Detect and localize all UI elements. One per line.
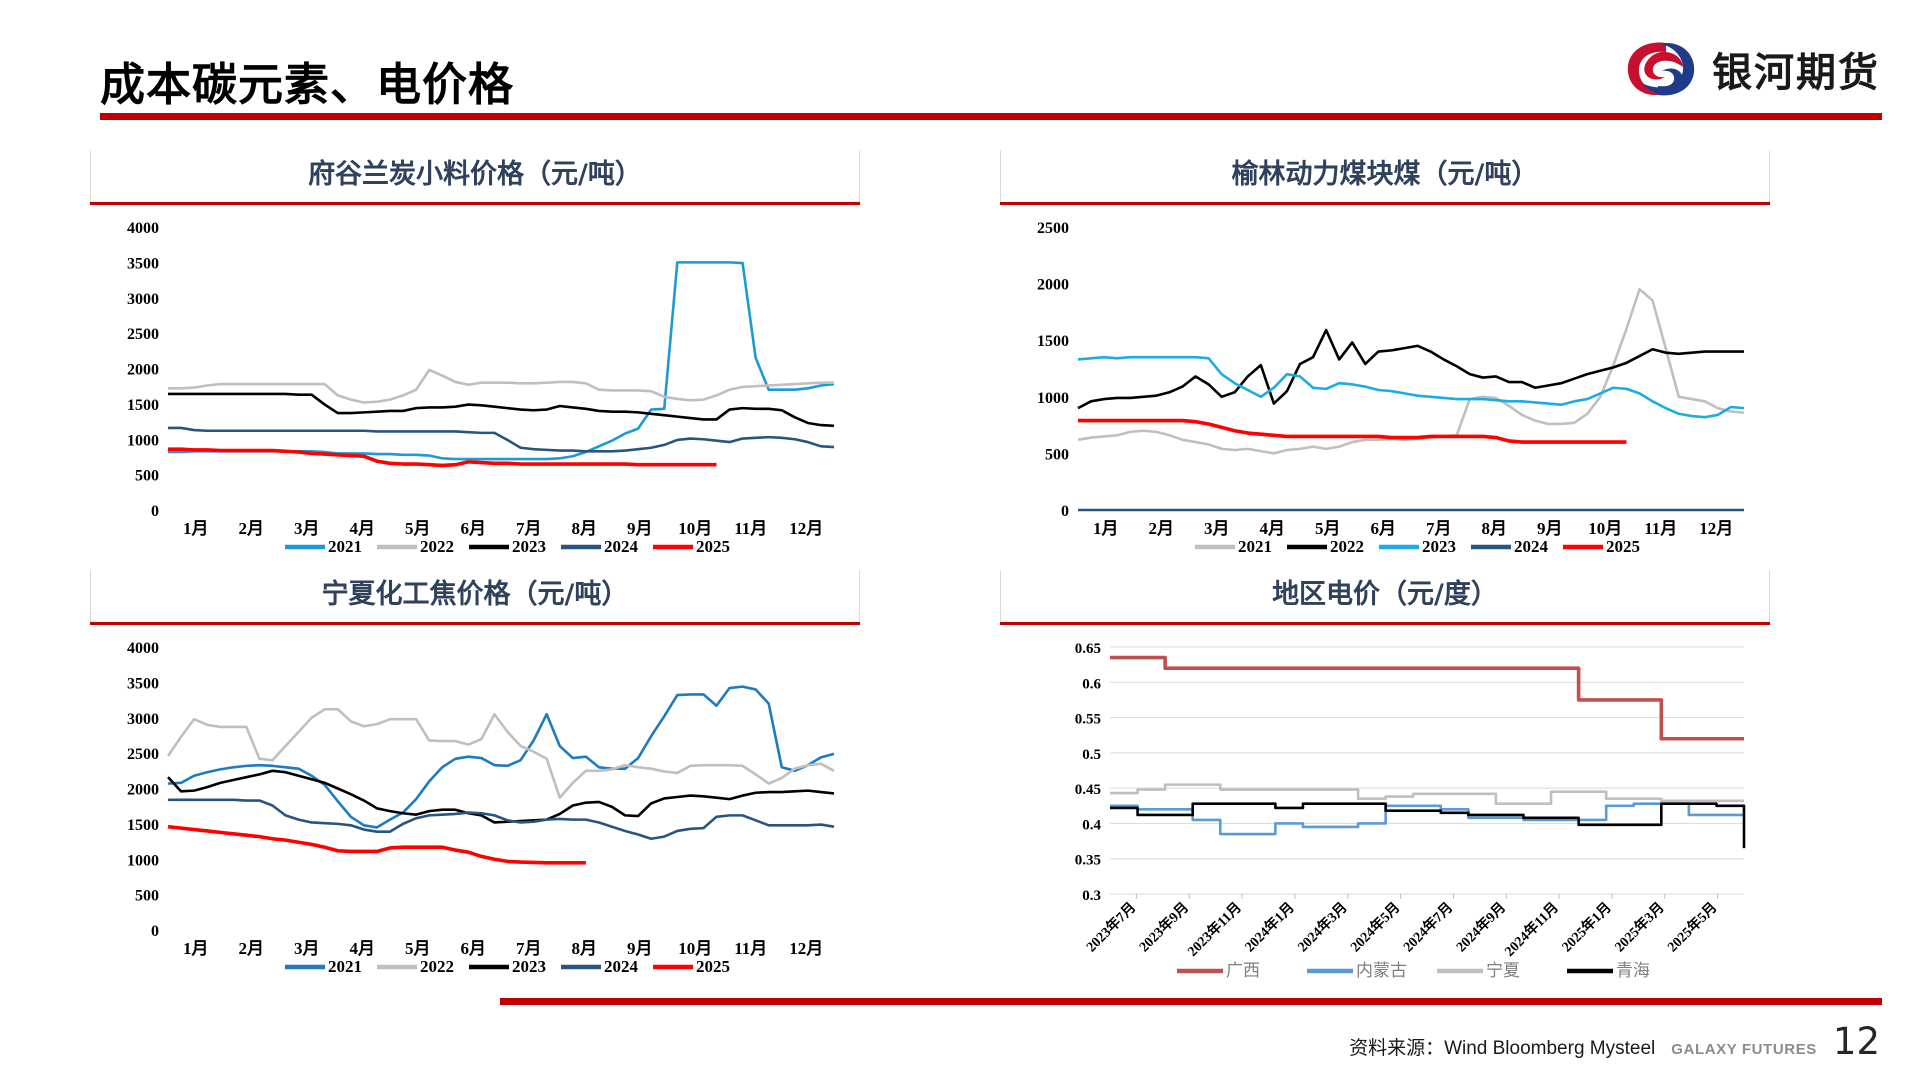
- chart-diqu-dianjia: 0.30.350.40.450.50.550.60.652023年7月2023年…: [1000, 625, 1770, 990]
- x-tick-label: 2024年7月: [1400, 899, 1457, 956]
- x-tick-label: 7月: [516, 939, 542, 958]
- series-line-2024: [168, 428, 834, 451]
- legend-label-2024: 2024: [604, 537, 639, 556]
- chart-fugu-lantan: 050010001500200025003000350040001月2月3月4月…: [90, 205, 860, 570]
- y-tick-label: 4000: [127, 220, 159, 237]
- y-tick-label: 0: [151, 503, 159, 520]
- x-tick-label: 3月: [294, 939, 320, 958]
- x-tick-label: 2024年1月: [1241, 899, 1298, 956]
- x-tick-label: 10月: [1588, 519, 1622, 538]
- y-tick-label: 0.5: [1082, 747, 1101, 763]
- legend-label-2024: 2024: [1514, 537, 1549, 556]
- panel-yulin-dongli-mei: 榆林动力煤块煤（元/吨） 050010001500200025001月2月3月4…: [1000, 150, 1770, 570]
- legend-label-2025: 2025: [1606, 537, 1640, 556]
- x-tick-label: 1月: [1093, 519, 1119, 538]
- chart-yulin-dongli-mei: 050010001500200025001月2月3月4月5月6月7月8月9月10…: [1000, 205, 1770, 570]
- y-tick-label: 0.3: [1082, 888, 1101, 904]
- x-tick-label: 6月: [1371, 519, 1397, 538]
- x-tick-label: 10月: [678, 939, 712, 958]
- series-line-2022: [168, 370, 834, 403]
- legend-label-2021: 2021: [1238, 537, 1272, 556]
- x-tick-label: 2月: [239, 519, 265, 538]
- x-tick-label: 2024年5月: [1347, 899, 1404, 956]
- y-tick-label: 3000: [127, 291, 159, 308]
- y-tick-label: 0.45: [1075, 782, 1101, 798]
- x-tick-label: 2023年11月: [1184, 899, 1245, 960]
- x-tick-label: 2025年3月: [1611, 899, 1668, 956]
- series-line-青海: [1110, 804, 1744, 848]
- x-tick-label: 7月: [516, 519, 542, 538]
- y-tick-label: 1500: [127, 817, 159, 834]
- series-line-2024: [168, 800, 834, 839]
- legend-label-2023: 2023: [512, 957, 546, 976]
- panel-ningxia-huagongjiao: 宁夏化工焦价格（元/吨） 050010001500200025003000350…: [90, 570, 860, 990]
- legend-label-2022: 2022: [420, 537, 454, 556]
- panel-fugu-lantan: 府谷兰炭小料价格（元/吨） 05001000150020002500300035…: [90, 150, 860, 570]
- footer: 资料来源：Wind Bloomberg Mysteel GALAXY FUTUR…: [1349, 1020, 1880, 1063]
- x-tick-label: 12月: [789, 939, 823, 958]
- y-tick-label: 0.35: [1075, 853, 1101, 869]
- series-line-2021: [168, 687, 834, 828]
- x-tick-label: 5月: [405, 939, 431, 958]
- series-line-2022: [168, 709, 834, 797]
- y-tick-label: 2500: [1037, 220, 1069, 237]
- chart-ningxia-huagongjiao: 050010001500200025003000350040001月2月3月4月…: [90, 625, 860, 990]
- series-line-2021: [1078, 289, 1744, 453]
- y-tick-label: 0: [151, 923, 159, 940]
- legend-label-2025: 2025: [696, 537, 730, 556]
- x-tick-label: 10月: [678, 519, 712, 538]
- legend-label-2023: 2023: [1422, 537, 1456, 556]
- y-tick-label: 1000: [127, 432, 159, 449]
- y-tick-label: 0.55: [1075, 712, 1101, 728]
- x-tick-label: 2024年11月: [1501, 899, 1562, 960]
- legend-label-广西: 广西: [1226, 961, 1260, 980]
- x-tick-label: 6月: [461, 939, 487, 958]
- x-tick-label: 11月: [734, 519, 767, 538]
- y-tick-label: 2000: [1037, 277, 1069, 294]
- y-tick-label: 2000: [127, 782, 159, 799]
- series-line-2023: [168, 394, 834, 426]
- x-tick-label: 11月: [1644, 519, 1677, 538]
- legend-label-2021: 2021: [328, 537, 362, 556]
- brand-name-en: GALAXY FUTURES: [1671, 1041, 1817, 1058]
- y-tick-label: 0.6: [1082, 676, 1101, 692]
- page-number: 12: [1833, 1020, 1880, 1063]
- legend-label-宁夏: 宁夏: [1486, 961, 1520, 980]
- x-tick-label: 5月: [1315, 519, 1341, 538]
- y-tick-label: 2500: [127, 326, 159, 343]
- legend-label-2024: 2024: [604, 957, 639, 976]
- panel-title: 宁夏化工焦价格（元/吨）: [91, 571, 859, 619]
- x-tick-label: 8月: [572, 939, 598, 958]
- panel-header: 地区电价（元/度）: [1000, 570, 1770, 622]
- source-note: 资料来源：Wind Bloomberg Mysteel: [1349, 1033, 1655, 1060]
- series-line-广西: [1110, 658, 1744, 739]
- panel-header: 宁夏化工焦价格（元/吨）: [90, 570, 860, 622]
- x-tick-label: 9月: [627, 939, 653, 958]
- legend-label-2021: 2021: [328, 957, 362, 976]
- footer-divider: [500, 998, 1882, 1005]
- legend-label-2023: 2023: [512, 537, 546, 556]
- series-line-内蒙古: [1110, 804, 1744, 834]
- x-tick-label: 9月: [627, 519, 653, 538]
- x-tick-label: 2025年1月: [1558, 899, 1615, 956]
- brand-logo: 银河期货: [1624, 38, 1880, 100]
- x-tick-label: 8月: [1482, 519, 1508, 538]
- x-tick-label: 11月: [734, 939, 767, 958]
- x-tick-label: 12月: [789, 519, 823, 538]
- legend-label-2022: 2022: [420, 957, 454, 976]
- x-tick-label: 2023年9月: [1136, 899, 1193, 956]
- y-tick-label: 0: [1061, 503, 1069, 520]
- x-tick-label: 2月: [239, 939, 265, 958]
- y-tick-label: 500: [135, 888, 159, 905]
- panel-title: 榆林动力煤块煤（元/吨）: [1001, 151, 1769, 199]
- y-tick-label: 4000: [127, 640, 159, 657]
- series-line-宁夏: [1110, 785, 1744, 804]
- x-tick-label: 2023年7月: [1083, 899, 1140, 956]
- y-tick-label: 1000: [127, 852, 159, 869]
- page-title: 成本碳元素、电价格: [100, 48, 514, 113]
- x-tick-label: 4月: [350, 939, 376, 958]
- y-tick-label: 3500: [127, 255, 159, 272]
- y-tick-label: 1000: [1037, 390, 1069, 407]
- y-tick-label: 500: [1045, 446, 1069, 463]
- x-tick-label: 3月: [1204, 519, 1230, 538]
- brand-name: 银河期货: [1712, 40, 1880, 98]
- y-tick-label: 2000: [127, 362, 159, 379]
- y-tick-label: 500: [135, 468, 159, 485]
- x-tick-label: 5月: [405, 519, 431, 538]
- legend-label-2022: 2022: [1330, 537, 1364, 556]
- y-tick-label: 0.65: [1075, 641, 1101, 657]
- title-divider: [100, 113, 1882, 120]
- legend-label-内蒙古: 内蒙古: [1356, 961, 1407, 980]
- x-tick-label: 4月: [350, 519, 376, 538]
- x-tick-label: 1月: [183, 519, 209, 538]
- x-tick-label: 2月: [1149, 519, 1175, 538]
- x-tick-label: 3月: [294, 519, 320, 538]
- y-tick-label: 2500: [127, 746, 159, 763]
- x-tick-label: 2024年3月: [1294, 899, 1351, 956]
- legend-label-青海: 青海: [1616, 961, 1650, 980]
- galaxy-swirl-logo-icon: [1624, 38, 1698, 100]
- panel-title: 地区电价（元/度）: [1001, 571, 1769, 619]
- x-tick-label: 1月: [183, 939, 209, 958]
- x-tick-label: 2024年9月: [1453, 899, 1510, 956]
- x-tick-label: 12月: [1699, 519, 1733, 538]
- legend-label-2025: 2025: [696, 957, 730, 976]
- y-tick-label: 1500: [1037, 333, 1069, 350]
- x-tick-label: 4月: [1260, 519, 1286, 538]
- panel-header: 榆林动力煤块煤（元/吨）: [1000, 150, 1770, 202]
- x-tick-label: 6月: [461, 519, 487, 538]
- y-tick-label: 0.4: [1082, 817, 1101, 833]
- y-tick-label: 3500: [127, 675, 159, 692]
- panel-diqu-dianjia: 地区电价（元/度） 0.30.350.40.450.50.550.60.6520…: [1000, 570, 1770, 990]
- panel-header: 府谷兰炭小料价格（元/吨）: [90, 150, 860, 202]
- x-tick-label: 7月: [1426, 519, 1452, 538]
- panel-title: 府谷兰炭小料价格（元/吨）: [91, 151, 859, 199]
- x-tick-label: 2025年5月: [1664, 899, 1721, 956]
- x-tick-label: 9月: [1537, 519, 1563, 538]
- y-tick-label: 3000: [127, 711, 159, 728]
- y-tick-label: 1500: [127, 397, 159, 414]
- x-tick-label: 8月: [572, 519, 598, 538]
